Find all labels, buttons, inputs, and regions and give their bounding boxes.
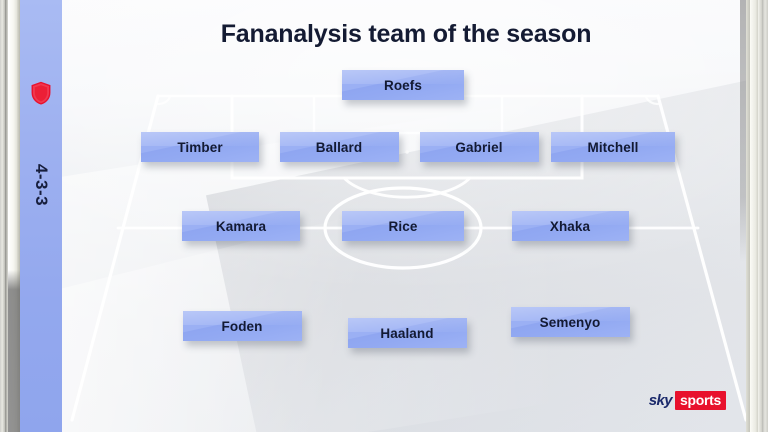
player-name: Ballard bbox=[316, 140, 362, 155]
player-name: Gabriel bbox=[455, 140, 502, 155]
player-chip-gabriel[interactable]: Gabriel bbox=[420, 132, 539, 162]
graphic-stage: Fananalysis team of the season RoefsTimb… bbox=[0, 0, 768, 432]
player-chip-ballard[interactable]: Ballard bbox=[280, 132, 399, 162]
player-name: Haaland bbox=[380, 326, 433, 341]
player-chip-semenyo[interactable]: Semenyo bbox=[511, 307, 630, 337]
frame-edge-right-3 bbox=[750, 0, 758, 432]
player-name: Xhaka bbox=[550, 219, 590, 234]
player-chip-rice[interactable]: Rice bbox=[342, 211, 464, 241]
player-name: Foden bbox=[222, 319, 263, 334]
shield-icon bbox=[31, 81, 52, 105]
player-chip-timber[interactable]: Timber bbox=[141, 132, 259, 162]
player-chip-roefs[interactable]: Roefs bbox=[342, 70, 464, 100]
logo-sky-text: sky bbox=[649, 392, 672, 409]
frame-edge-right-1 bbox=[762, 0, 768, 432]
player-chip-kamara[interactable]: Kamara bbox=[182, 211, 300, 241]
sky-sports-logo: sky sports bbox=[649, 391, 726, 410]
page-title: Fananalysis team of the season bbox=[62, 20, 750, 49]
player-name: Mitchell bbox=[587, 140, 638, 155]
player-chip-mitchell[interactable]: Mitchell bbox=[551, 132, 675, 162]
player-chip-foden[interactable]: Foden bbox=[183, 311, 302, 341]
player-name: Semenyo bbox=[540, 315, 601, 330]
frame-edge-left-shadow bbox=[8, 270, 20, 432]
player-name: Kamara bbox=[216, 219, 266, 234]
formation-label: 4-3-3 bbox=[31, 164, 51, 206]
logo-sports-text: sports bbox=[675, 391, 726, 410]
player-name: Rice bbox=[389, 219, 418, 234]
formation-sidebar[interactable]: 4-3-3 bbox=[20, 0, 62, 432]
player-name: Roefs bbox=[384, 78, 422, 93]
player-chip-haaland[interactable]: Haaland bbox=[348, 318, 467, 348]
player-chip-xhaka[interactable]: Xhaka bbox=[512, 211, 629, 241]
player-name: Timber bbox=[177, 140, 222, 155]
